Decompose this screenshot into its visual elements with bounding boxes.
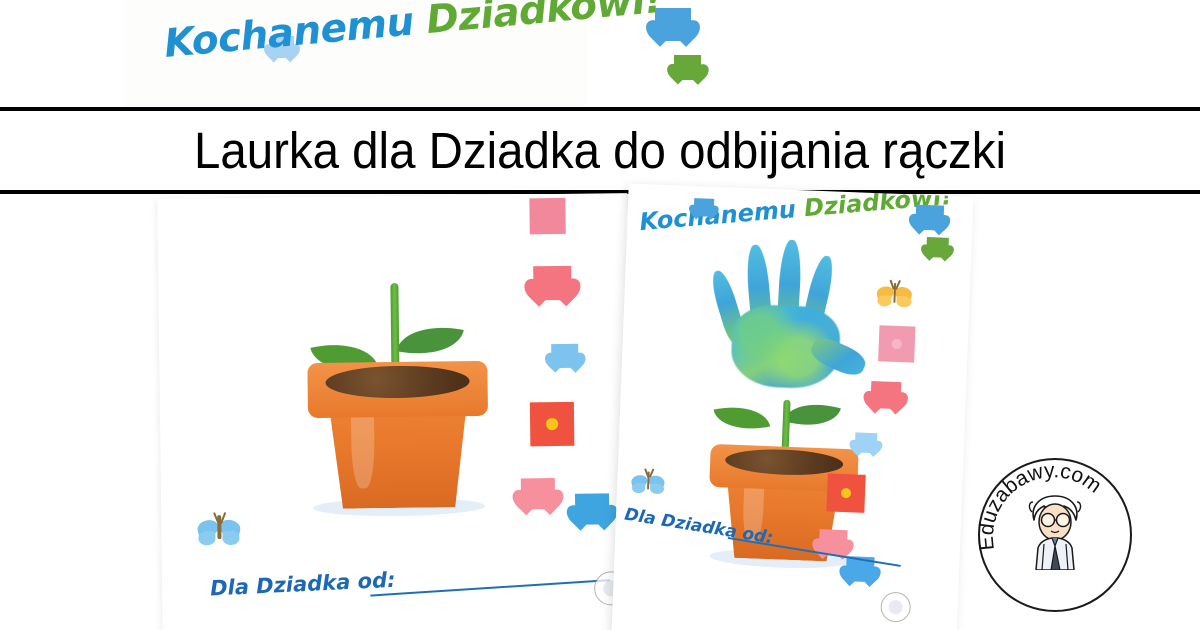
- heart-blue-icon: [655, 8, 691, 41]
- flower-center-3: [841, 488, 851, 498]
- flower-red-icon-2: [826, 473, 865, 512]
- flower-pink-icon-2: [878, 325, 915, 362]
- heart-blue-icon-3: [915, 205, 944, 231]
- leaf-right-icon-2: [783, 394, 841, 435]
- scientist-avatar-icon: [1020, 490, 1090, 570]
- stamp-face-2: [888, 600, 903, 615]
- heart-green-icon: [674, 55, 701, 80]
- flower-red-icon: [530, 402, 575, 447]
- heart-pink-icon: [521, 478, 555, 509]
- worksheet-completed[interactable]: Kochanemu Dziadkowi!: [611, 184, 973, 630]
- poster-canvas: Kochanemu Dziadkowi! Laurka dla Dziadka …: [0, 0, 1200, 630]
- leaf-left-icon-2: [714, 399, 771, 437]
- heart-coral-icon-2: [870, 381, 901, 409]
- page-title: Laurka dla Dziadka do odbijania rączki: [42, 112, 1158, 188]
- heart-coral-icon: [533, 266, 571, 300]
- worksheet-blank[interactable]: Dla Dziadka od:: [157, 193, 632, 630]
- flower-pink-icon: [529, 198, 565, 234]
- flowerpot-illustration: [306, 283, 489, 515]
- worksheet-header-kochanemu: Kochanemu: [638, 195, 797, 236]
- flower-center-2: [892, 339, 902, 349]
- leaf-right-icon: [396, 318, 463, 363]
- butterfly-blue-icon-2: [631, 470, 666, 497]
- butterfly-blue-icon: [197, 514, 241, 549]
- signature-label: Dla Dziadka od:: [210, 568, 396, 601]
- kochanemu-dziadkowi-banner: Kochanemu Dziadkowi!: [125, 0, 585, 104]
- banner-word-kochanemu: Kochanemu: [162, 0, 415, 67]
- sheet-watermark-stamp-2: [880, 592, 911, 623]
- butterfly-yellow-icon: [876, 281, 913, 310]
- signature-line[interactable]: [370, 579, 610, 596]
- banner-strip: Kochanemu Dziadkowi!: [0, 0, 1200, 108]
- heart-blue-small-icon: [694, 198, 715, 217]
- title-rule-top: [0, 107, 1200, 111]
- heart-light-blue-icon-2: [551, 344, 578, 368]
- heart-green-icon-2: [926, 237, 949, 258]
- heart-blue-icon-2: [575, 493, 609, 524]
- banner-word-dziadkowi: Dziadkowi!: [411, 0, 663, 44]
- flower-center: [546, 418, 558, 430]
- heart-light-blue-icon-3: [855, 432, 878, 453]
- banner-headline: Kochanemu Dziadkowi!: [162, 0, 566, 82]
- eduzabawy-logo[interactable]: Eduzabawy.com: [972, 452, 1136, 616]
- heart-pink-icon-2: [819, 529, 848, 555]
